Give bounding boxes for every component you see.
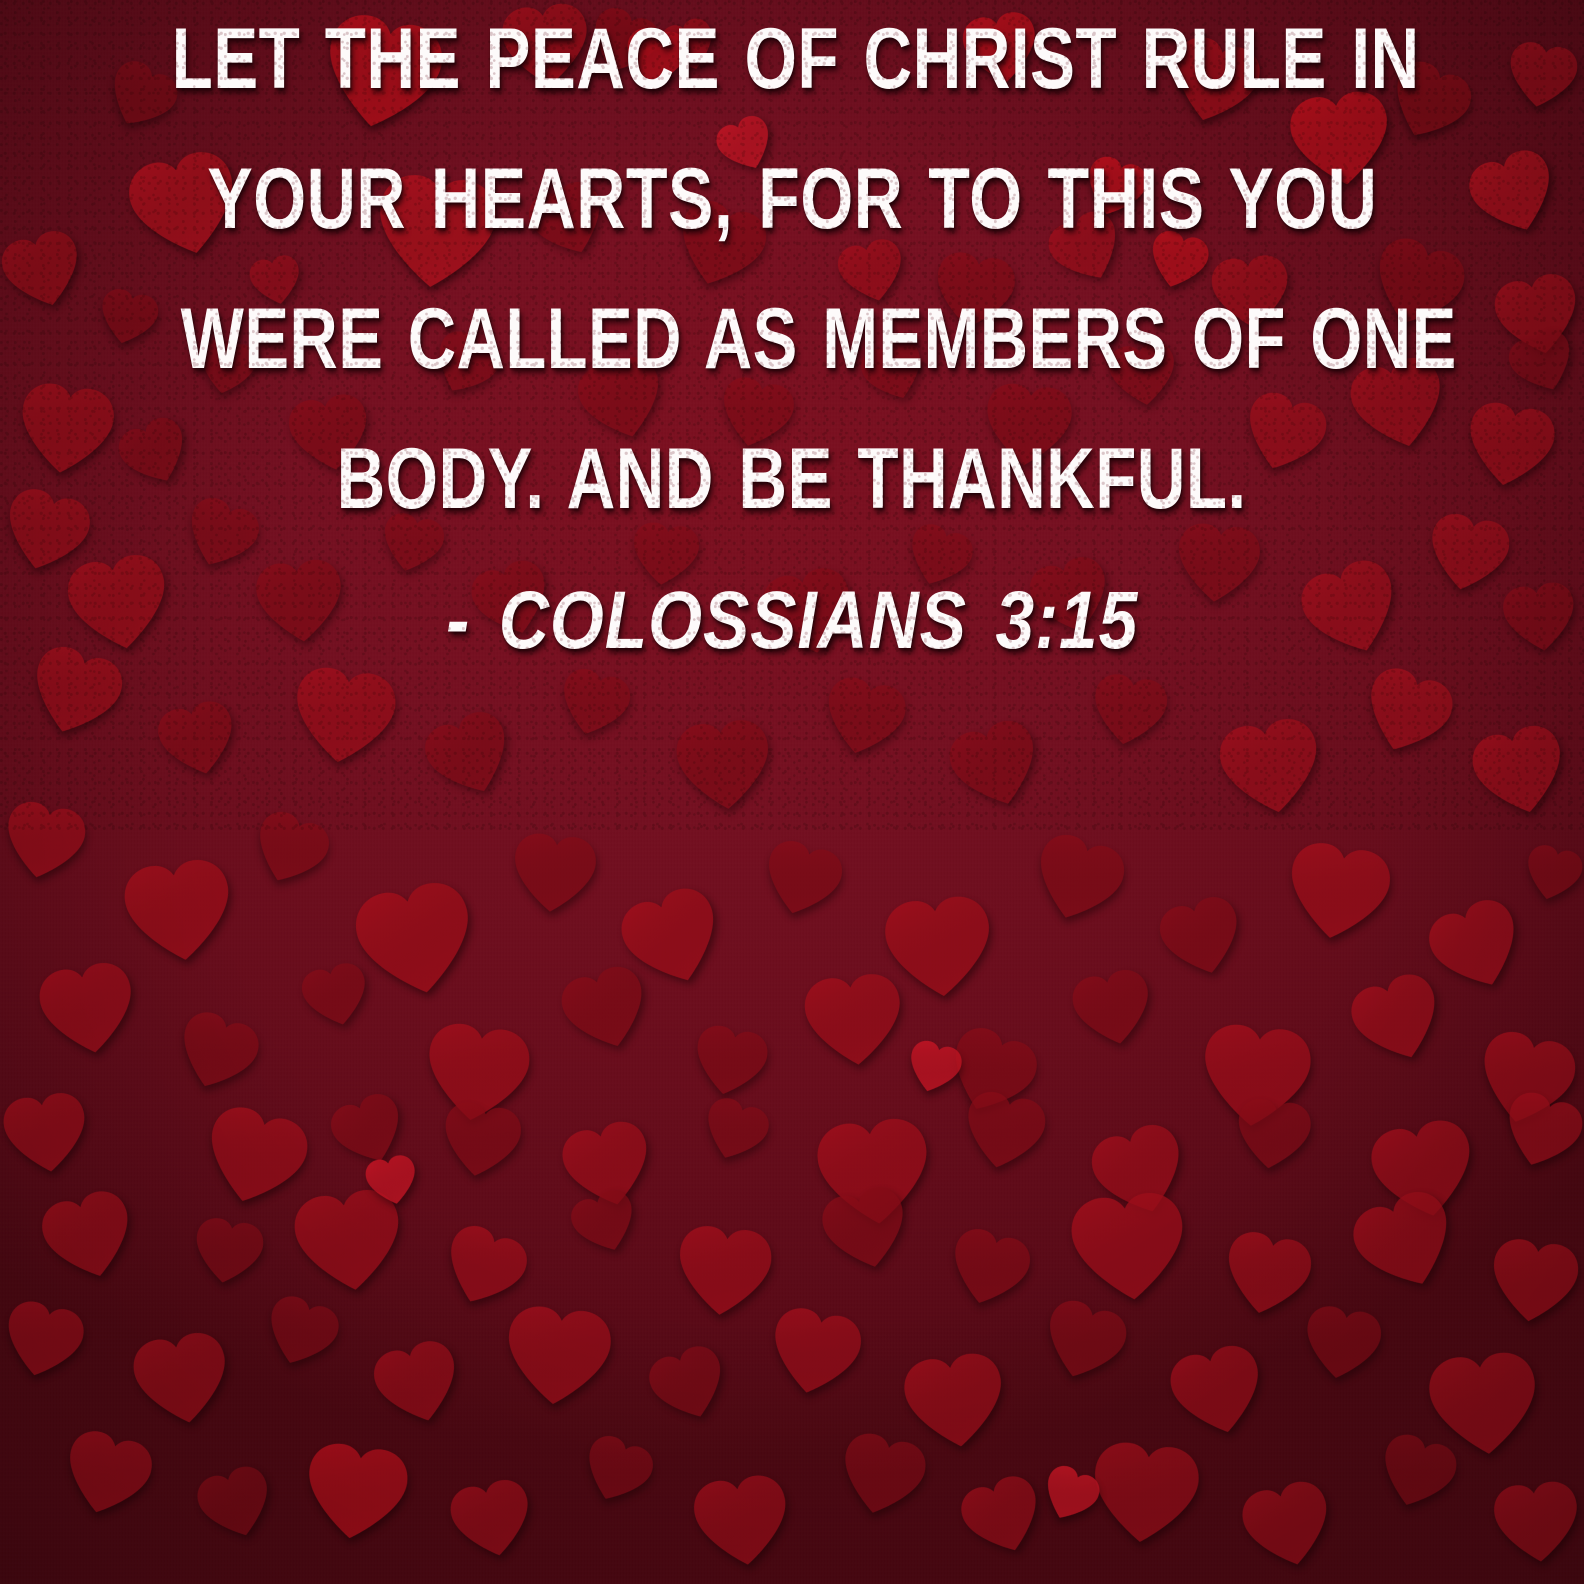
verse-line-3: WERE CALLED AS MEMBERS OF ONE: [0, 296, 1584, 382]
verse-line-2: YOUR HEARTS, FOR TO THIS YOU: [0, 156, 1584, 242]
verse-attribution: - COLOSSIANS 3:15: [0, 580, 1584, 662]
verse-text-block: LET THE PEACE OF CHRIST RULE IN YOUR HEA…: [0, 0, 1584, 830]
verse-line-4: BODY. AND BE THANKFUL.: [0, 436, 1584, 522]
verse-line-1: LET THE PEACE OF CHRIST RULE IN: [0, 16, 1584, 102]
verse-image-canvas: LET THE PEACE OF CHRIST RULE IN YOUR HEA…: [0, 0, 1584, 1584]
